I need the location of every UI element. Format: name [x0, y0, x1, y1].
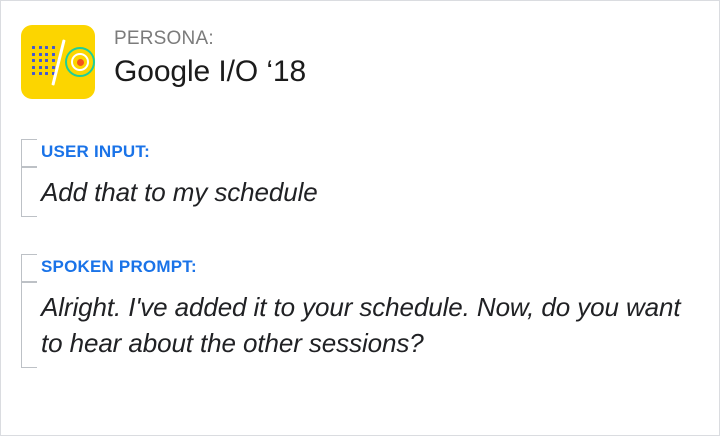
ring-core-icon — [77, 59, 84, 66]
section-user-input-label-row: USER INPUT: — [21, 139, 318, 167]
section-user-input: USER INPUT: Add that to my schedule — [21, 139, 318, 217]
persona-header: PERSONA: Google I/O ‘18 — [21, 25, 306, 99]
section-spoken-prompt-text: Alright. I've added it to your schedule.… — [41, 282, 681, 368]
section-user-input-label: USER INPUT: — [41, 142, 150, 162]
persona-label: PERSONA: — [114, 26, 306, 51]
section-spoken-prompt-body-row: Alright. I've added it to your schedule.… — [21, 282, 681, 368]
section-spoken-prompt-label-row: SPOKEN PROMPT: — [21, 254, 681, 282]
bracket-icon — [21, 167, 37, 217]
section-user-input-text: Add that to my schedule — [41, 167, 318, 217]
persona-text-block: PERSONA: Google I/O ‘18 — [114, 25, 306, 91]
bracket-icon — [21, 282, 37, 368]
persona-name: Google I/O ‘18 — [114, 53, 306, 91]
section-user-input-body-row: Add that to my schedule — [21, 167, 318, 217]
google-io-persona-icon — [21, 25, 95, 99]
section-spoken-prompt: SPOKEN PROMPT: Alright. I've added it to… — [21, 254, 681, 368]
persona-dialog-card: PERSONA: Google I/O ‘18 USER INPUT: Add … — [0, 0, 720, 436]
bracket-icon — [21, 254, 37, 282]
bracket-icon — [21, 139, 37, 167]
section-spoken-prompt-label: SPOKEN PROMPT: — [41, 257, 197, 277]
